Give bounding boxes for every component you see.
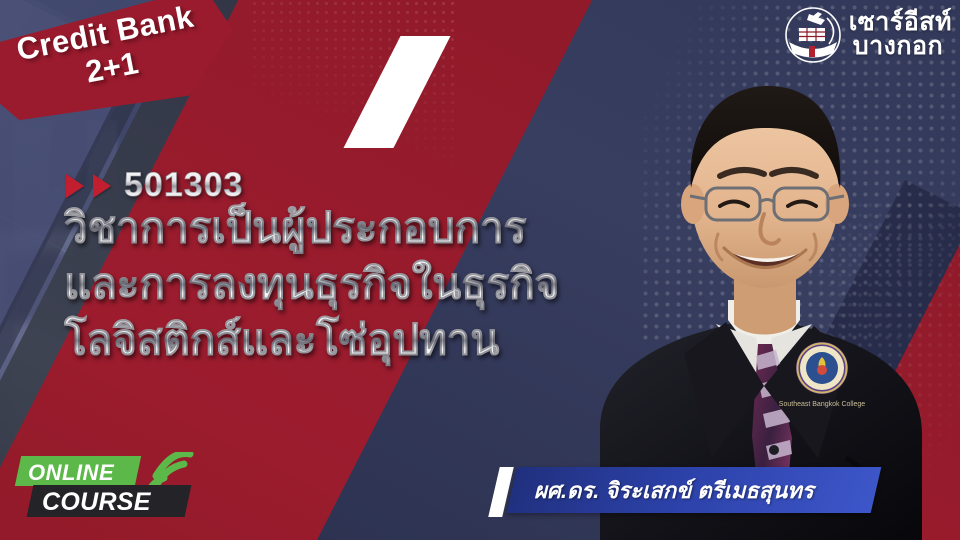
svg-text:Southeast Bangkok College: Southeast Bangkok College xyxy=(779,401,865,408)
arrow-right-icon-1 xyxy=(66,174,84,198)
course-title-line-3: โลจิสติกส์และโซ่อุปทาน xyxy=(64,312,624,368)
logo-line-2: บางกอก xyxy=(849,35,952,59)
course-title: วิชาการเป็นผู้ประกอบการ และการลงทุนธุรกิ… xyxy=(64,200,624,368)
course-promo-banner: Southeast Bangkok College Credit Bank 2+… xyxy=(0,0,960,540)
ship-plane-circle-icon xyxy=(783,6,843,64)
institution-logo-text: เซาร์อีสท์ บางกอก xyxy=(849,11,952,59)
institution-logo: เซาร์อีสท์ บางกอก xyxy=(783,4,952,66)
instructor-name-banner: ผศ.ดร. จิระเสกข์ ตรีเมธสุนทร xyxy=(494,469,876,515)
course-badge-label: COURSE xyxy=(42,486,202,518)
course-title-line-1: วิชาการเป็นผู้ประกอบการ xyxy=(64,200,624,256)
online-badge-label: ONLINE xyxy=(28,458,148,488)
halftone-dots-top-left xyxy=(250,0,460,190)
course-title-line-2: และการลงทุนธุรกิจในธุรกิจ xyxy=(64,256,624,312)
arrow-right-icon-2 xyxy=(93,174,111,198)
instructor-name: ผศ.ดร. จิระเสกข์ ตรีเมธสุนทร xyxy=(534,467,884,513)
online-course-badge: ONLINE COURSE xyxy=(18,456,188,518)
